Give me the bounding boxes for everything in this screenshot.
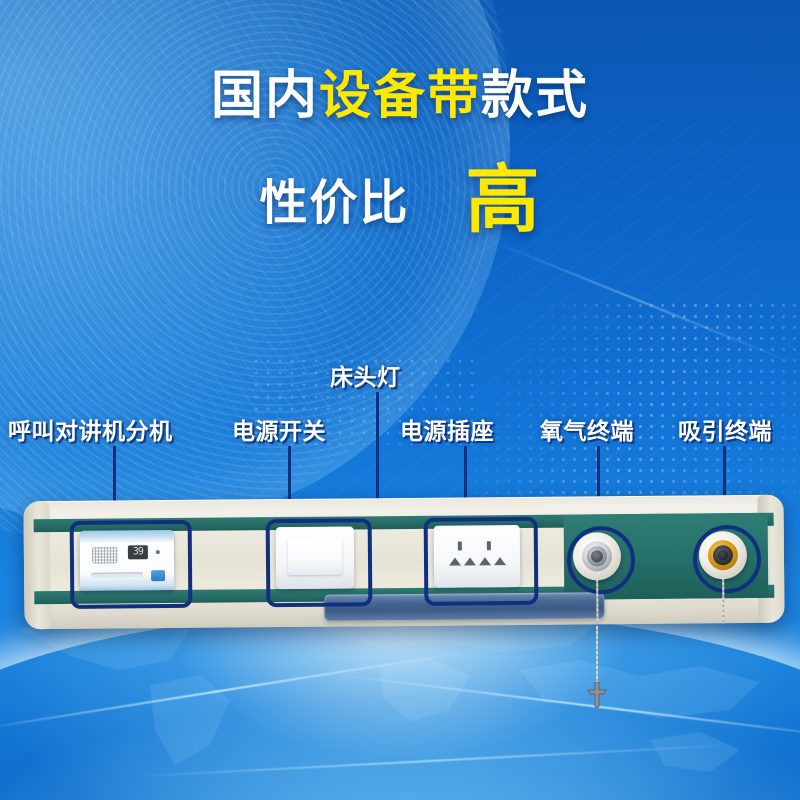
dot-pattern-right	[470, 300, 800, 500]
callout-label-switch: 电源开关	[232, 412, 326, 446]
headline-part-2: 款式	[481, 67, 589, 125]
headline-subtext: 性价比	[259, 163, 409, 233]
headline-block: 国内设备带款式 性价比 高	[0, 70, 800, 251]
callout-label-intercom: 呼叫对讲机分机	[8, 412, 173, 446]
highlight-circle-suction	[693, 525, 762, 594]
headline-part-1: 国内	[211, 67, 319, 125]
callout-label-oxygen: 氧气终端	[540, 412, 634, 446]
hanging-cord	[596, 626, 598, 690]
highlight-circle-oxygen	[567, 526, 636, 595]
callout-label-socket: 电源插座	[400, 412, 494, 446]
highlight-box-switch	[266, 518, 373, 607]
suction-terminal-cord	[722, 577, 724, 623]
headline-accent: 设备带	[319, 67, 481, 125]
callout-label-suction: 吸引终端	[678, 412, 772, 446]
headline-line-1: 国内设备带款式	[0, 70, 800, 122]
promo-banner: 国内设备带款式 性价比 高 呼叫对讲机分机 电源开关 床头灯 电源插座 氧气终端…	[0, 0, 800, 800]
headline-line-2: 性价比 高	[259, 144, 540, 251]
highlight-box-intercom	[70, 520, 193, 609]
medical-bed-head-unit: 39	[23, 495, 784, 630]
cord-weight-anchor-icon	[586, 682, 608, 708]
highlight-box-socket	[424, 517, 539, 606]
headline-big-word: 高	[466, 140, 541, 247]
oxygen-terminal-cord	[596, 578, 598, 624]
callout-label-bedlamp: 床头灯	[330, 358, 401, 392]
